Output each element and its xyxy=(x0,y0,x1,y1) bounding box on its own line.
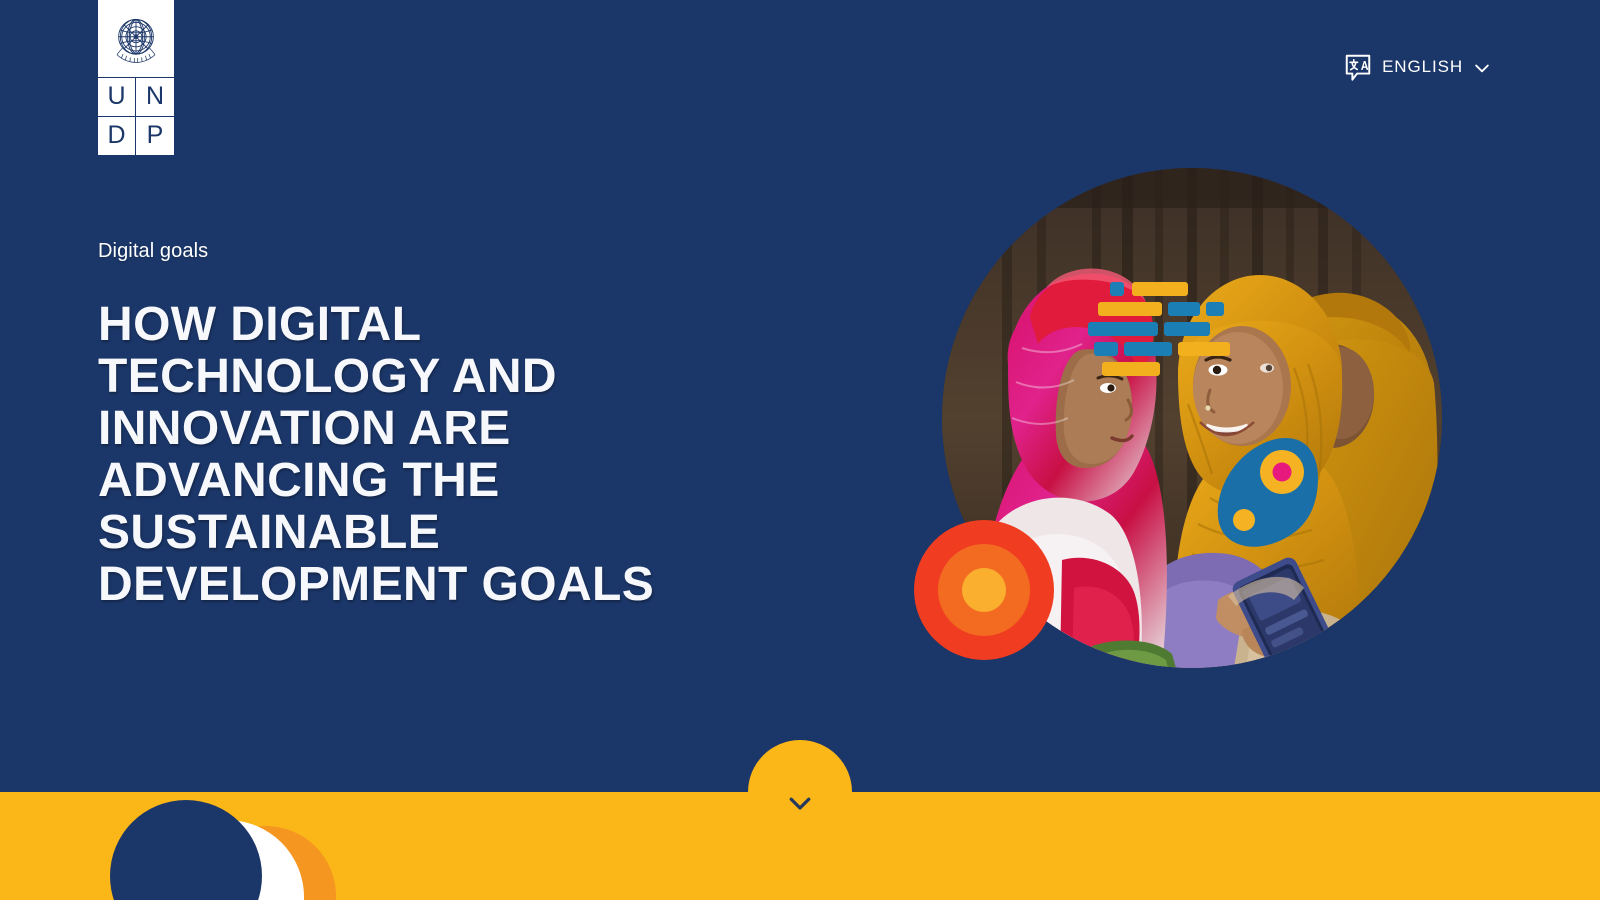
logo-letter-p: P xyxy=(136,117,174,156)
decoration-circle-white xyxy=(150,820,304,900)
logo-letter-u: U xyxy=(98,78,136,117)
hero-photo xyxy=(942,168,1442,668)
hero-page: U N D P ENGLISH xyxy=(0,0,1600,900)
translate-icon xyxy=(1343,52,1373,82)
circle-cluster-decoration xyxy=(0,792,340,900)
logo-letter-n: N xyxy=(136,78,174,117)
undp-logo[interactable]: U N D P xyxy=(98,0,174,155)
chevron-down-icon xyxy=(785,788,815,818)
page-title: How digital technology and innovation ar… xyxy=(98,299,738,611)
hero-eyebrow: Digital goals xyxy=(98,240,818,263)
logo-letter-d: D xyxy=(98,117,136,156)
hero-media xyxy=(942,168,1442,668)
language-label: ENGLISH xyxy=(1382,57,1463,77)
un-emblem-icon xyxy=(98,0,174,78)
scroll-down-button[interactable] xyxy=(748,740,852,844)
decoration-circle-orange xyxy=(196,826,336,900)
undp-logo-letters: U N D P xyxy=(98,78,174,155)
decoration-circle-navy xyxy=(110,800,262,900)
chevron-down-icon xyxy=(1472,58,1492,78)
bottom-band xyxy=(0,792,1600,900)
hero-text-block: Digital goals How digital technology and… xyxy=(98,240,818,611)
language-selector[interactable]: ENGLISH xyxy=(1343,52,1492,82)
